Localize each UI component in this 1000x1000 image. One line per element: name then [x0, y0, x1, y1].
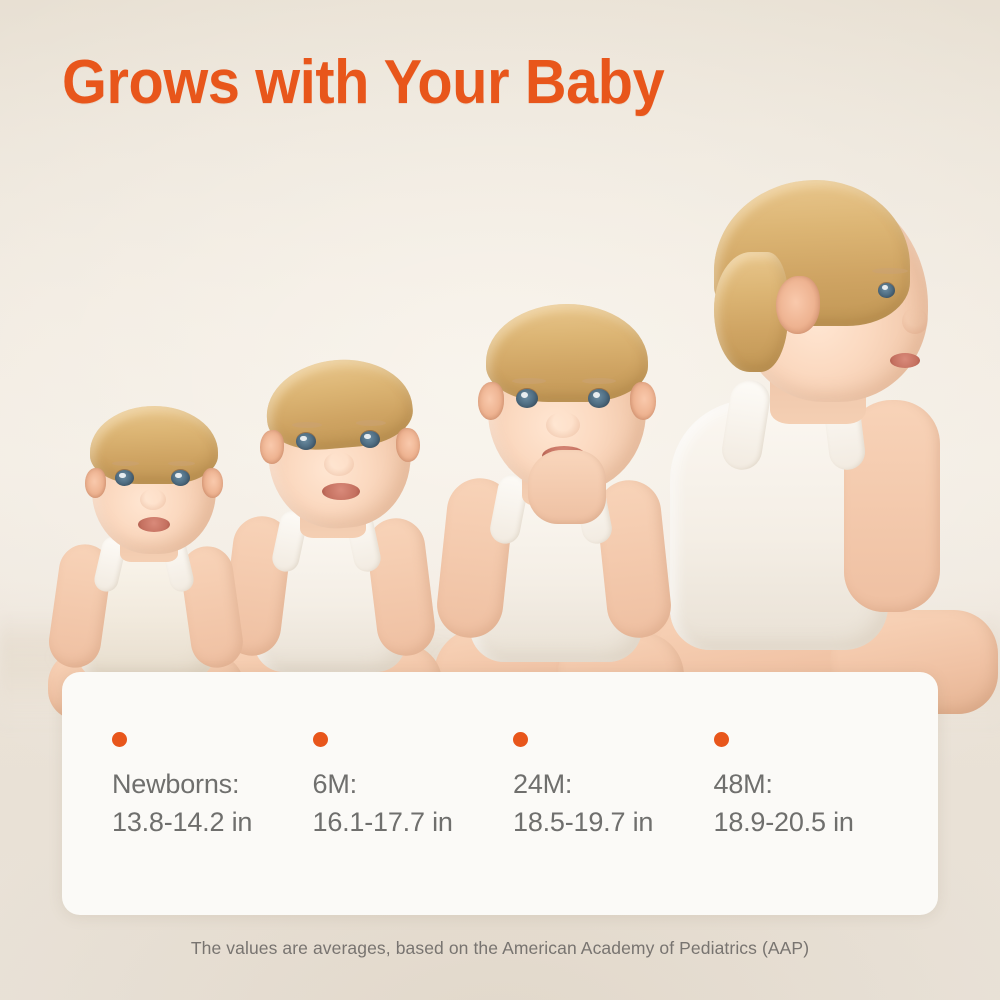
- baby-48m-brow: [872, 268, 908, 274]
- baby-48m-nose: [902, 308, 928, 334]
- baby-48m-ear: [776, 276, 820, 334]
- stat-label: 48M:: [714, 765, 915, 803]
- product-infographic: Grows with Your Baby: [0, 0, 1000, 1000]
- baby-newborn-hair: [90, 406, 218, 484]
- baby-6m: [218, 340, 448, 720]
- size-info-card: Newborns: 13.8-14.2 in 6M: 16.1-17.7 in …: [62, 672, 938, 915]
- baby-24m-nose: [546, 412, 580, 438]
- baby-48m-eye: [878, 283, 895, 298]
- baby-24m-eye-left: [516, 389, 538, 408]
- baby-24m: [430, 260, 690, 720]
- stat-6m: 6M: 16.1-17.7 in: [313, 732, 514, 842]
- baby-24m-brow-right: [582, 378, 616, 384]
- baby-newborn-ear-right: [202, 468, 223, 498]
- footnote-disclaimer: The values are averages, based on the Am…: [0, 938, 1000, 959]
- baby-6m-ear-right: [396, 428, 420, 462]
- baby-24m-eye-right: [588, 389, 610, 408]
- bullet-dot-icon: [714, 732, 729, 747]
- stat-value: 18.9-20.5 in: [714, 803, 915, 841]
- baby-newborn-eye-left: [115, 470, 134, 486]
- bullet-dot-icon: [513, 732, 528, 747]
- baby-6m-mouth: [322, 483, 360, 500]
- stat-label: Newborns:: [112, 765, 313, 803]
- baby-group-photo: [0, 120, 1000, 720]
- page-title: Grows with Your Baby: [62, 52, 664, 114]
- stat-value: 18.5-19.7 in: [513, 803, 714, 841]
- baby-6m-eye-right: [360, 431, 380, 448]
- stat-value: 16.1-17.7 in: [313, 803, 514, 841]
- stat-label: 24M:: [513, 765, 714, 803]
- baby-24m-brow-left: [512, 378, 546, 384]
- baby-newborn-brow-left: [112, 461, 139, 466]
- baby-6m-brow-left: [292, 422, 322, 428]
- baby-6m-nose: [324, 452, 354, 476]
- baby-24m-hair: [486, 304, 648, 402]
- baby-24m-hands: [528, 450, 606, 524]
- baby-48m-mouth: [890, 353, 920, 368]
- stat-newborns: Newborns: 13.8-14.2 in: [112, 732, 313, 842]
- baby-newborn-nose: [140, 489, 166, 510]
- baby-6m-ear-left: [260, 430, 284, 464]
- baby-6m-eye-left: [296, 433, 316, 450]
- stat-24m: 24M: 18.5-19.7 in: [513, 732, 714, 842]
- stat-48m: 48M: 18.9-20.5 in: [714, 732, 915, 842]
- stat-value: 13.8-14.2 in: [112, 803, 313, 841]
- size-stats-row: Newborns: 13.8-14.2 in 6M: 16.1-17.7 in …: [112, 732, 914, 842]
- bullet-dot-icon: [313, 732, 328, 747]
- baby-6m-brow-right: [356, 420, 386, 426]
- baby-newborn-brow-right: [168, 461, 195, 466]
- baby-24m-ear-left: [478, 382, 504, 420]
- baby-24m-ear-right: [630, 382, 656, 420]
- baby-newborn-eye-right: [171, 470, 190, 486]
- baby-newborn-ear-left: [85, 468, 106, 498]
- baby-newborn-mouth: [138, 517, 170, 532]
- bullet-dot-icon: [112, 732, 127, 747]
- stat-label: 6M:: [313, 765, 514, 803]
